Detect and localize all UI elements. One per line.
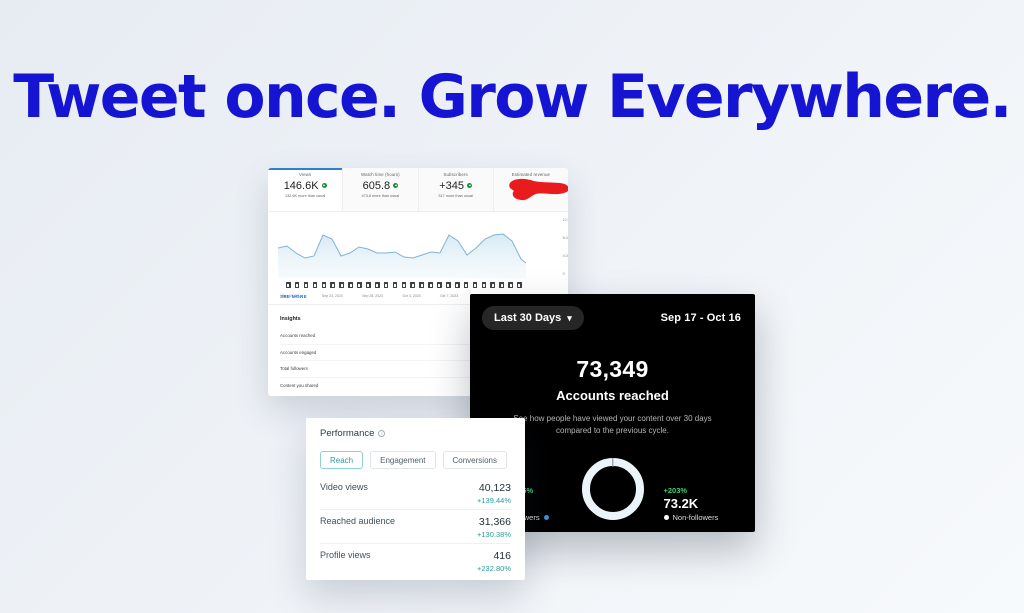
metric-delta: +139.44% <box>477 496 511 505</box>
date-range-label: Sep 17 - Oct 16 <box>661 312 741 324</box>
x-tick: Sep 28, 2023 <box>362 294 383 298</box>
thumbnail-marker[interactable] <box>428 282 433 288</box>
info-icon[interactable]: i <box>378 430 385 437</box>
non-followers-legend-label: Non-followers <box>673 513 719 522</box>
metric-sub: 473.8 more than usual <box>343 194 417 198</box>
thumbnail-marker[interactable] <box>313 282 318 288</box>
table-row[interactable]: Profile views 416 +232.80% <box>320 544 511 578</box>
performance-tabs: Reach Engagement Conversions <box>320 451 507 469</box>
metric-value: 146.6K <box>268 180 342 192</box>
metric-value: 416 <box>477 550 511 562</box>
insights-title: Insights <box>280 316 301 322</box>
insight-label: Content you shared <box>280 383 318 388</box>
metric-delta: +232.80% <box>477 564 511 573</box>
thumbnail-marker[interactable] <box>508 282 513 288</box>
metric-tile-watch-time[interactable]: Watch time (hours) 605.8 473.8 more than… <box>343 168 418 211</box>
chart-y-axis: 12.0K 8.0K 4.0K 0 <box>563 218 568 276</box>
metric-sub: 132.6K more than usual <box>268 194 342 198</box>
followers-legend-dot-icon <box>544 515 549 520</box>
metric-tile-views[interactable]: Views 146.6K 132.6K more than usual <box>268 168 343 211</box>
metric-number: +345 <box>439 180 464 192</box>
tab-engagement[interactable]: Engagement <box>370 451 435 469</box>
instagram-card-header: Last 30 Days ▾ Sep 17 - Oct 16 <box>470 294 755 330</box>
donut-ring <box>582 458 644 520</box>
metric-value: 31,366 <box>477 516 511 528</box>
period-label: Last 30 Days <box>494 312 561 324</box>
thumbnail-marker[interactable] <box>410 282 415 288</box>
thumbnail-marker[interactable] <box>322 282 327 288</box>
metric-label: Subscribers <box>419 172 493 177</box>
performance-card: Performance i Reach Engagement Conversio… <box>306 418 525 580</box>
metric-number: 146.6K <box>284 180 319 192</box>
page-title: Tweet once. Grow Everywhere. <box>0 62 1024 132</box>
metric-values: 40,123 +139.44% <box>477 482 511 505</box>
metric-delta: +130.38% <box>477 530 511 539</box>
thumbnail-marker[interactable] <box>473 282 478 288</box>
metric-label: Reached audience <box>320 516 395 526</box>
thumbnail-marker[interactable] <box>464 282 469 288</box>
metric-values: 31,366 +130.38% <box>477 516 511 539</box>
metric-tile-subscribers[interactable]: Subscribers +345 317 more than usual <box>419 168 494 211</box>
thumbnail-marker[interactable] <box>348 282 353 288</box>
tab-reach[interactable]: Reach <box>320 451 363 469</box>
youtube-metric-row: Views 146.6K 132.6K more than usual Watc… <box>268 168 568 212</box>
thumbnail-marker[interactable] <box>419 282 424 288</box>
y-tick: 8.0K <box>563 236 568 240</box>
accounts-reached-value: 73,349 <box>470 356 755 383</box>
metric-value <box>494 180 568 185</box>
metric-label: Watch time (hours) <box>343 172 417 177</box>
reach-donut-chart <box>582 458 644 520</box>
y-tick: 12.0K <box>563 218 568 222</box>
trend-up-icon <box>393 183 398 188</box>
thumbnail-marker[interactable] <box>402 282 407 288</box>
non-followers-legend: Non-followers <box>664 513 732 522</box>
thumbnail-marker[interactable] <box>357 282 362 288</box>
tab-conversions[interactable]: Conversions <box>443 451 507 469</box>
accounts-reached-label: Accounts reached <box>470 388 755 403</box>
thumbnail-marker[interactable] <box>482 282 487 288</box>
thumbnail-marker[interactable] <box>455 282 460 288</box>
metric-label: Profile views <box>320 550 371 560</box>
donut-segment-divider <box>612 458 613 467</box>
x-tick: Oct 7, 2023 <box>440 294 458 298</box>
metric-number: 605.8 <box>363 180 391 192</box>
views-area-chart: 12.0K 8.0K 4.0K 0 <box>278 222 554 278</box>
thumbnail-marker[interactable] <box>375 282 380 288</box>
x-tick: Oct 3, 2023 <box>403 294 421 298</box>
see-more-link[interactable]: SEE MORE <box>280 294 307 299</box>
non-followers-count: 73.2K <box>664 496 732 511</box>
thumbnail-marker[interactable] <box>295 282 300 288</box>
thumbnail-marker[interactable] <box>339 282 344 288</box>
insight-label: Total followers <box>280 366 308 371</box>
thumbnail-marker[interactable] <box>384 282 389 288</box>
x-tick: Sep 24, 2023 <box>322 294 343 298</box>
video-thumbnail-strip <box>286 282 522 288</box>
thumbnail-marker[interactable] <box>393 282 398 288</box>
metric-label: Views <box>268 172 342 177</box>
metric-tile-estimated-revenue[interactable]: Estimated revenue <box>494 168 568 211</box>
chart-svg <box>278 222 526 278</box>
metric-value: 605.8 <box>343 180 417 192</box>
trend-up-icon <box>528 180 533 185</box>
metric-values: 416 +232.80% <box>477 550 511 573</box>
metric-label: Video views <box>320 482 368 492</box>
thumbnail-marker[interactable] <box>366 282 371 288</box>
insight-label: Accounts engaged <box>280 350 316 355</box>
performance-title: Performance i <box>320 428 385 439</box>
thumbnail-marker[interactable] <box>499 282 504 288</box>
thumbnail-marker[interactable] <box>517 282 522 288</box>
thumbnail-marker[interactable] <box>490 282 495 288</box>
metric-sub <box>494 187 568 191</box>
period-selector[interactable]: Last 30 Days ▾ <box>482 306 584 330</box>
thumbnail-marker[interactable] <box>330 282 335 288</box>
breakdown-non-followers: +203% 73.2K Non-followers <box>650 486 732 522</box>
y-tick: 0 <box>563 272 568 276</box>
thumbnail-marker[interactable] <box>437 282 442 288</box>
non-followers-delta: +203% <box>664 486 732 495</box>
thumbnail-marker[interactable] <box>286 282 291 288</box>
performance-metric-list: Video views 40,123 +139.44% Reached audi… <box>320 476 511 578</box>
trend-up-icon <box>322 183 327 188</box>
table-row[interactable]: Video views 40,123 +139.44% <box>320 476 511 510</box>
thumbnail-marker[interactable] <box>446 282 451 288</box>
trend-up-icon <box>467 183 472 188</box>
metric-label: Estimated revenue <box>494 172 568 177</box>
metric-value: 40,123 <box>477 482 511 494</box>
insight-label: Accounts reached <box>280 333 315 338</box>
metric-value: +345 <box>419 180 493 192</box>
thumbnail-marker[interactable] <box>304 282 309 288</box>
table-row[interactable]: Reached audience 31,366 +130.38% <box>320 510 511 544</box>
metric-sub: 317 more than usual <box>419 194 493 198</box>
y-tick: 4.0K <box>563 254 568 258</box>
performance-title-text: Performance <box>320 428 374 439</box>
non-followers-legend-dot-icon <box>664 515 669 520</box>
chevron-down-icon: ▾ <box>567 313 572 324</box>
